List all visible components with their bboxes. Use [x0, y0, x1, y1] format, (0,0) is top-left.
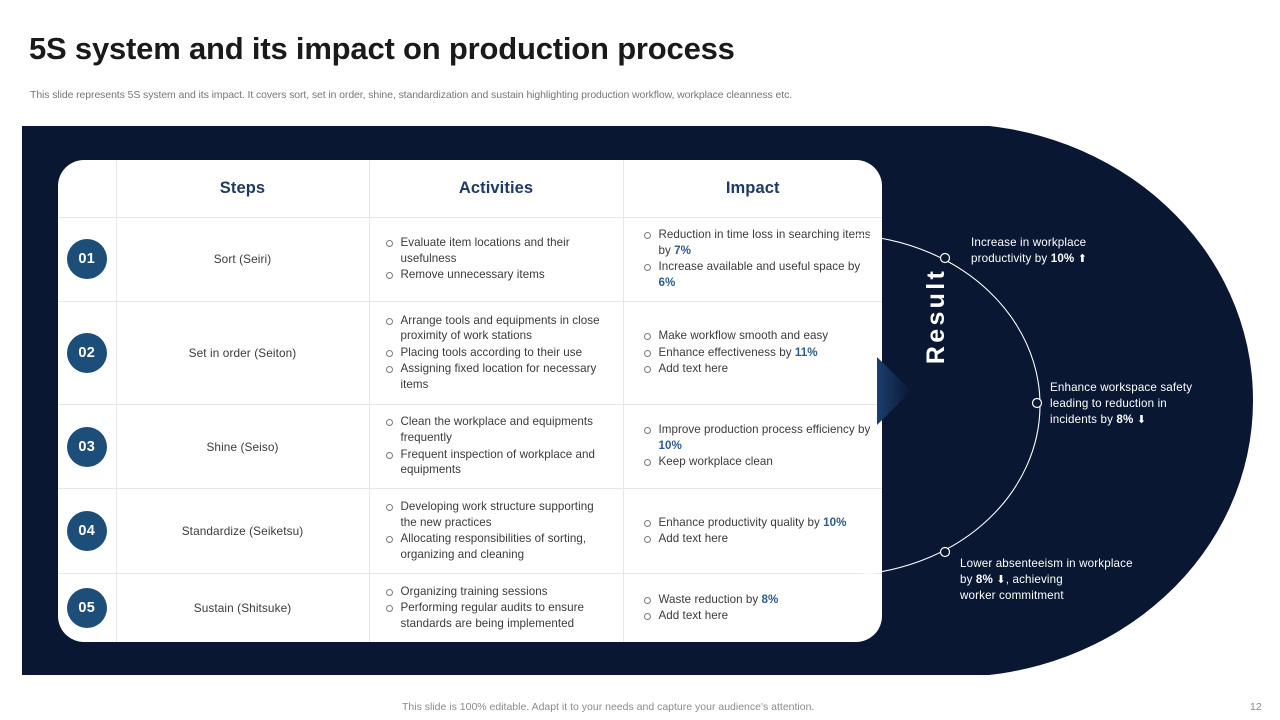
column-header-activities: Activities [369, 160, 623, 217]
impact-text: Keep workplace clean [659, 455, 773, 468]
callout-mid-line3-text: incidents by [1050, 413, 1116, 426]
impact-cell: Waste reduction by 8%Add text here [623, 574, 882, 642]
impact-value: 10% [659, 439, 682, 452]
list-item: Remove unnecessary items [384, 267, 613, 283]
arc-path [855, 235, 1040, 575]
list-item: Increase available and useful space by 6… [642, 259, 873, 290]
activities-list: Organizing training sessionsPerforming r… [384, 584, 613, 632]
step-number-cell: 03 [58, 404, 116, 489]
list-item: Performing regular audits to ensure stan… [384, 600, 613, 631]
column-header-number [58, 160, 116, 217]
page-title: 5S system and its impact on production p… [29, 31, 735, 67]
impact-text: Make workflow smooth and easy [659, 329, 829, 342]
callout-lower-absenteeism: Lower absenteeism in workplace by 8% ⬇, … [960, 556, 1175, 605]
list-item: Reduction in time loss in searching item… [642, 227, 873, 258]
step-number-badge: 05 [67, 588, 107, 628]
impact-cell: Make workflow smooth and easyEnhance eff… [623, 302, 882, 404]
arrow-down-icon-2: ⬇ [996, 574, 1005, 586]
callout-mid-line2: leading to reduction in [1050, 397, 1167, 410]
step-number-badge: 04 [67, 511, 107, 551]
step-name-cell: Sustain (Shitsuke) [116, 574, 369, 642]
impact-value: 7% [674, 244, 691, 257]
impact-cell: Reduction in time loss in searching item… [623, 217, 882, 302]
impact-cell: Enhance productivity quality by 10%Add t… [623, 489, 882, 574]
impact-text: Add text here [659, 362, 729, 375]
impact-text: Increase available and useful space by [659, 260, 861, 273]
step-number-cell: 05 [58, 574, 116, 642]
callout-bottom-line2-text: by [960, 573, 976, 586]
impact-value: 6% [659, 276, 676, 289]
table-row: 04Standardize (Seiketsu)Developing work … [58, 489, 882, 574]
list-item: Evaluate item locations and their useful… [384, 235, 613, 266]
activities-cell: Clean the workplace and equipments frequ… [369, 404, 623, 489]
table-body: 01Sort (Seiri)Evaluate item locations an… [58, 217, 882, 642]
step-number-badge: 02 [67, 333, 107, 373]
table-row: 03Shine (Seiso)Clean the workplace and e… [58, 404, 882, 489]
list-item: Add text here [642, 361, 873, 377]
list-item: Add text here [642, 608, 873, 624]
impact-list: Enhance productivity quality by 10%Add t… [642, 515, 873, 547]
list-item: Developing work structure supporting the… [384, 499, 613, 530]
activities-cell: Organizing training sessionsPerforming r… [369, 574, 623, 642]
arc-node-bottom [941, 548, 950, 557]
five-s-table: Steps Activities Impact 01Sort (Seiri)Ev… [58, 160, 882, 642]
impact-text: Add text here [659, 532, 729, 545]
impact-text: Improve production process efficiency by [659, 423, 871, 436]
impact-list: Improve production process efficiency by… [642, 422, 873, 470]
step-number-badge: 03 [67, 427, 107, 467]
callout-mid-value: 8% [1116, 413, 1133, 426]
step-name-cell: Set in order (Seiton) [116, 302, 369, 404]
impact-value: 10% [823, 516, 846, 529]
step-name-cell: Standardize (Seiketsu) [116, 489, 369, 574]
arc-node-top [941, 254, 950, 263]
table-row: 05Sustain (Shitsuke)Organizing training … [58, 574, 882, 642]
callout-workspace-safety: Enhance workspace safety leading to redu… [1050, 380, 1265, 429]
callout-mid-line1: Enhance workspace safety [1050, 381, 1192, 394]
arrow-down-icon: ⬇ [1137, 414, 1146, 426]
callout-bottom-line1: Lower absenteeism in workplace [960, 557, 1133, 570]
five-s-table-card: Steps Activities Impact 01Sort (Seiri)Ev… [58, 160, 882, 642]
impact-value: 11% [795, 346, 818, 359]
table-header: Steps Activities Impact [58, 160, 882, 217]
impact-text: Waste reduction by [659, 593, 762, 606]
column-header-impact: Impact [623, 160, 882, 217]
list-item: Frequent inspection of workplace and equ… [384, 447, 613, 478]
arrow-up-icon: ⬆ [1078, 253, 1087, 265]
callout-bottom-line2-after: , achieving [1006, 573, 1063, 586]
impact-cell: Improve production process efficiency by… [623, 404, 882, 489]
list-item: Clean the workplace and equipments frequ… [384, 414, 613, 445]
callout-increase-productivity: Increase in workplace productivity by 10… [971, 235, 1181, 267]
activities-list: Clean the workplace and equipments frequ… [384, 414, 613, 477]
step-number-cell: 02 [58, 302, 116, 404]
page-subtitle: This slide represents 5S system and its … [30, 89, 792, 101]
callout-top-line1: Increase in workplace [971, 236, 1086, 249]
list-item: Make workflow smooth and easy [642, 328, 873, 344]
list-item: Placing tools according to their use [384, 345, 613, 361]
impact-list: Reduction in time loss in searching item… [642, 227, 873, 290]
activities-cell: Developing work structure supporting the… [369, 489, 623, 574]
impact-text: Add text here [659, 609, 729, 622]
column-header-steps: Steps [116, 160, 369, 217]
step-name-cell: Shine (Seiso) [116, 404, 369, 489]
step-number-cell: 04 [58, 489, 116, 574]
callout-top-value: 10% [1051, 252, 1075, 265]
list-item: Improve production process efficiency by… [642, 422, 873, 453]
footer-note: This slide is 100% editable. Adapt it to… [402, 701, 814, 713]
page-number: 12 [1250, 701, 1262, 713]
list-item: Enhance effectiveness by 11% [642, 345, 873, 361]
impact-list: Make workflow smooth and easyEnhance eff… [642, 328, 873, 377]
impact-text: Enhance effectiveness by [659, 346, 795, 359]
slide: 5S system and its impact on production p… [0, 0, 1280, 720]
step-number-cell: 01 [58, 217, 116, 302]
callout-bottom-line3: worker commitment [960, 589, 1064, 602]
list-item: Waste reduction by 8% [642, 592, 873, 608]
list-item: Enhance productivity quality by 10% [642, 515, 873, 531]
arc-node-middle [1033, 399, 1042, 408]
list-item: Arrange tools and equipments in close pr… [384, 313, 613, 344]
list-item: Keep workplace clean [642, 454, 873, 470]
table-header-row: Steps Activities Impact [58, 160, 882, 217]
impact-text: Enhance productivity quality by [659, 516, 824, 529]
step-number-badge: 01 [67, 239, 107, 279]
impact-value: 8% [761, 593, 778, 606]
impact-list: Waste reduction by 8%Add text here [642, 592, 873, 624]
list-item: Allocating responsibilities of sorting, … [384, 531, 613, 562]
list-item: Add text here [642, 531, 873, 547]
activities-list: Developing work structure supporting the… [384, 499, 613, 562]
step-name-cell: Sort (Seiri) [116, 217, 369, 302]
table-row: 02Set in order (Seiton)Arrange tools and… [58, 302, 882, 404]
callout-top-line2-text: productivity by [971, 252, 1051, 265]
activities-list: Arrange tools and equipments in close pr… [384, 313, 613, 393]
list-item: Assigning fixed location for necessary i… [384, 361, 613, 392]
callout-bottom-value: 8% [976, 573, 993, 586]
activities-list: Evaluate item locations and their useful… [384, 235, 613, 283]
table-row: 01Sort (Seiri)Evaluate item locations an… [58, 217, 882, 302]
list-item: Organizing training sessions [384, 584, 613, 600]
activities-cell: Evaluate item locations and their useful… [369, 217, 623, 302]
activities-cell: Arrange tools and equipments in close pr… [369, 302, 623, 404]
